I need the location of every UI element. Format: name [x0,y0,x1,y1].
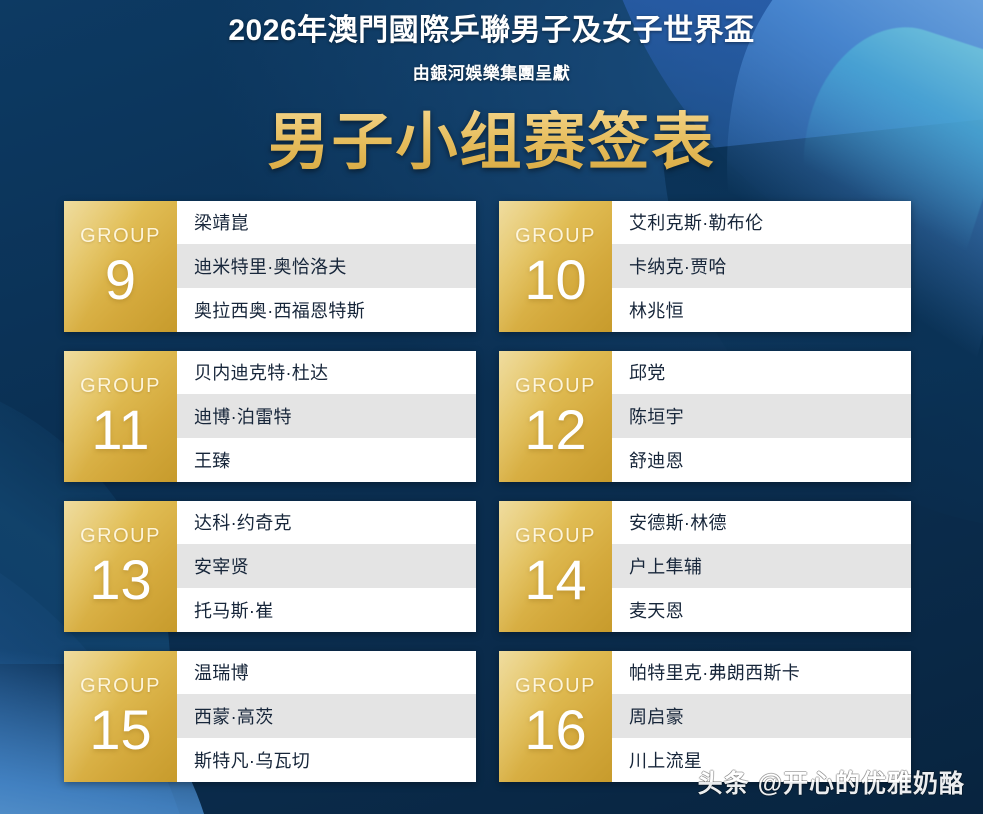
group-badge: GROUP11 [64,351,177,482]
group-number: 14 [524,552,586,608]
group-badge: GROUP14 [499,501,612,632]
player-row: 西蒙·高茨 [177,694,476,738]
group-badge: GROUP16 [499,651,612,782]
poster-header: 2026年澳門國際乒聯男子及女子世界盃 由銀河娛樂集團呈獻 男子小组赛签表 [0,0,983,175]
player-row: 麦天恩 [612,588,911,632]
player-row: 托马斯·崔 [177,588,476,632]
group-number: 13 [89,552,151,608]
player-row: 达科·约奇克 [177,501,476,545]
player-list: 梁靖崑迪米特里·奥恰洛夫奥拉西奥·西福恩特斯 [177,201,476,332]
player-row: 温瑞博 [177,651,476,695]
player-row: 邱党 [612,351,911,395]
player-row: 林兆恒 [612,288,911,332]
group-card: GROUP12邱党陈垣宇舒迪恩 [499,351,911,482]
group-label: GROUP [515,676,596,696]
player-row: 安德斯·林德 [612,501,911,545]
player-row: 户上隼辅 [612,544,911,588]
group-badge: GROUP13 [64,501,177,632]
player-row: 陈垣宇 [612,394,911,438]
group-number: 9 [105,252,136,308]
group-card: GROUP15温瑞博西蒙·高茨斯特凡·乌瓦切 [64,651,476,782]
player-row: 帕特里克·弗朗西斯卡 [612,651,911,695]
player-row: 迪博·泊雷特 [177,394,476,438]
poster-root: 2026年澳門國際乒聯男子及女子世界盃 由銀河娛樂集團呈獻 男子小组赛签表 GR… [0,0,983,814]
group-label: GROUP [80,376,161,396]
group-number: 15 [89,702,151,758]
group-card: GROUP11贝内迪克特·杜达迪博·泊雷特王臻 [64,351,476,482]
group-label: GROUP [515,226,596,246]
event-subtitle: 由銀河娛樂集團呈獻 [0,59,983,84]
group-badge: GROUP12 [499,351,612,482]
group-number: 16 [524,702,586,758]
player-row: 梁靖崑 [177,201,476,245]
player-row: 迪米特里·奥恰洛夫 [177,244,476,288]
group-card: GROUP9梁靖崑迪米特里·奥恰洛夫奥拉西奥·西福恩特斯 [64,201,476,332]
player-row: 奥拉西奥·西福恩特斯 [177,288,476,332]
player-list: 艾利克斯·勒布伦卡纳克·贾哈林兆恒 [612,201,911,332]
player-row: 舒迪恩 [612,438,911,482]
player-list: 帕特里克·弗朗西斯卡周启豪川上流星 [612,651,911,782]
player-row: 卡纳克·贾哈 [612,244,911,288]
player-list: 贝内迪克特·杜达迪博·泊雷特王臻 [177,351,476,482]
player-list: 达科·约奇克安宰贤托马斯·崔 [177,501,476,632]
groups-grid: GROUP9梁靖崑迪米特里·奥恰洛夫奥拉西奥·西福恩特斯GROUP10艾利克斯·… [64,201,919,782]
group-number: 12 [524,402,586,458]
watermark: 头条 @开心的优雅奶酪 [698,764,965,800]
player-row: 艾利克斯·勒布伦 [612,201,911,245]
player-row: 贝内迪克特·杜达 [177,351,476,395]
player-list: 安德斯·林德户上隼辅麦天恩 [612,501,911,632]
group-badge: GROUP15 [64,651,177,782]
player-row: 斯特凡·乌瓦切 [177,738,476,782]
player-row: 周启豪 [612,694,911,738]
player-list: 邱党陈垣宇舒迪恩 [612,351,911,482]
player-row: 安宰贤 [177,544,476,588]
group-label: GROUP [80,526,161,546]
group-label: GROUP [515,376,596,396]
player-row: 王臻 [177,438,476,482]
group-badge: GROUP9 [64,201,177,332]
group-badge: GROUP10 [499,201,612,332]
group-number: 10 [524,252,586,308]
group-card: GROUP14安德斯·林德户上隼辅麦天恩 [499,501,911,632]
group-label: GROUP [515,526,596,546]
group-card: GROUP10艾利克斯·勒布伦卡纳克·贾哈林兆恒 [499,201,911,332]
group-card: GROUP13达科·约奇克安宰贤托马斯·崔 [64,501,476,632]
event-title: 2026年澳門國際乒聯男子及女子世界盃 [0,14,983,49]
page-title: 男子小组赛签表 [0,110,983,175]
group-number: 11 [91,402,149,458]
group-card: GROUP16帕特里克·弗朗西斯卡周启豪川上流星 [499,651,911,782]
group-label: GROUP [80,226,161,246]
player-list: 温瑞博西蒙·高茨斯特凡·乌瓦切 [177,651,476,782]
group-label: GROUP [80,676,161,696]
